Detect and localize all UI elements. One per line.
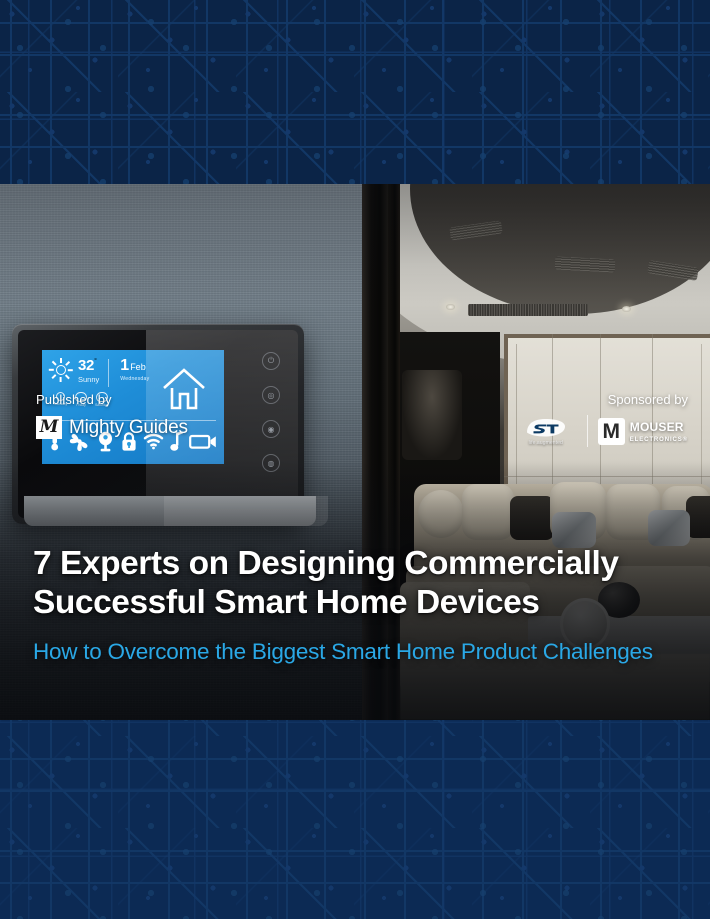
panel-housing-glare bbox=[164, 496, 328, 526]
date-weekday: Wednesday bbox=[120, 377, 149, 382]
sponsored-by-label: Sponsored by bbox=[515, 392, 688, 407]
date-day: 1 bbox=[120, 357, 129, 374]
mighty-guides-wordmark: Mighty Guides bbox=[69, 417, 188, 439]
circuit-pattern-lower-band bbox=[0, 720, 710, 919]
weather-condition: Sunny bbox=[78, 376, 99, 384]
published-by-label: Published by bbox=[36, 392, 188, 407]
mouser-subtitle: ELECTRONICS® bbox=[630, 437, 688, 443]
publisher-block: Published by M Mighty Guides bbox=[36, 392, 188, 439]
date-block: 1Feb Wednesday bbox=[120, 358, 149, 382]
dark-throw-pillow bbox=[510, 496, 554, 540]
st-logo[interactable]: life.augmented bbox=[515, 417, 577, 446]
sponsor-logo-divider bbox=[587, 415, 588, 447]
date-month: Feb bbox=[130, 362, 146, 372]
temperature-value: 32 bbox=[78, 357, 94, 374]
panel-lower-housing bbox=[24, 496, 316, 526]
mouser-wordmark: MOUSER ELECTRONICS® bbox=[630, 419, 688, 443]
cover-title-block: 7 Experts on Designing Commercially Succ… bbox=[33, 544, 686, 665]
panel-side-buttons: ⏻ ◎ ◉ ◍ bbox=[262, 352, 280, 472]
page-title: 7 Experts on Designing Commercially Succ… bbox=[33, 544, 686, 622]
temperature-block: 32° Sunny bbox=[78, 358, 99, 384]
call-icon[interactable]: ◎ bbox=[262, 386, 280, 404]
sponsor-logos: life.augmented M MOUSER ELECTRONICS® bbox=[515, 415, 688, 447]
silver-throw-pillow bbox=[648, 510, 690, 546]
cover-photo-band: 32° Sunny 1Feb Wednesday bbox=[0, 184, 710, 720]
sponsor-block: Sponsored by life.augmented M bbox=[515, 392, 688, 447]
recessed-downlight bbox=[446, 304, 455, 310]
power-icon[interactable]: ⏻ bbox=[262, 352, 280, 370]
ceiling-linear-vent bbox=[468, 304, 588, 316]
silver-throw-pillow bbox=[552, 512, 596, 548]
recessed-downlight bbox=[622, 306, 631, 312]
st-tagline: life.augmented bbox=[515, 440, 577, 446]
mouser-logo[interactable]: M MOUSER ELECTRONICS® bbox=[598, 418, 688, 445]
mouser-name: MOUSER bbox=[630, 420, 684, 434]
mighty-guides-logo[interactable]: M Mighty Guides bbox=[36, 416, 188, 439]
decor-lamp bbox=[402, 370, 462, 460]
sun-icon bbox=[50, 359, 72, 381]
ebook-cover-page: 32° Sunny 1Feb Wednesday bbox=[0, 0, 710, 919]
mouser-m-icon: M bbox=[598, 418, 625, 445]
sofa-cushion bbox=[462, 484, 514, 540]
mighty-guides-monogram-icon: M bbox=[36, 416, 62, 439]
st-swoosh-icon bbox=[524, 417, 568, 439]
bell-icon[interactable]: ◍ bbox=[262, 454, 280, 472]
video-camera-icon[interactable] bbox=[189, 433, 217, 450]
page-subtitle: How to Overcome the Biggest Smart Home P… bbox=[33, 639, 686, 665]
weather-date-divider bbox=[108, 359, 109, 387]
info-icon[interactable]: ◉ bbox=[262, 420, 280, 438]
degree-symbol: ° bbox=[94, 358, 97, 365]
sofa-cushion bbox=[418, 490, 464, 538]
wall-panel-seam bbox=[504, 476, 710, 477]
